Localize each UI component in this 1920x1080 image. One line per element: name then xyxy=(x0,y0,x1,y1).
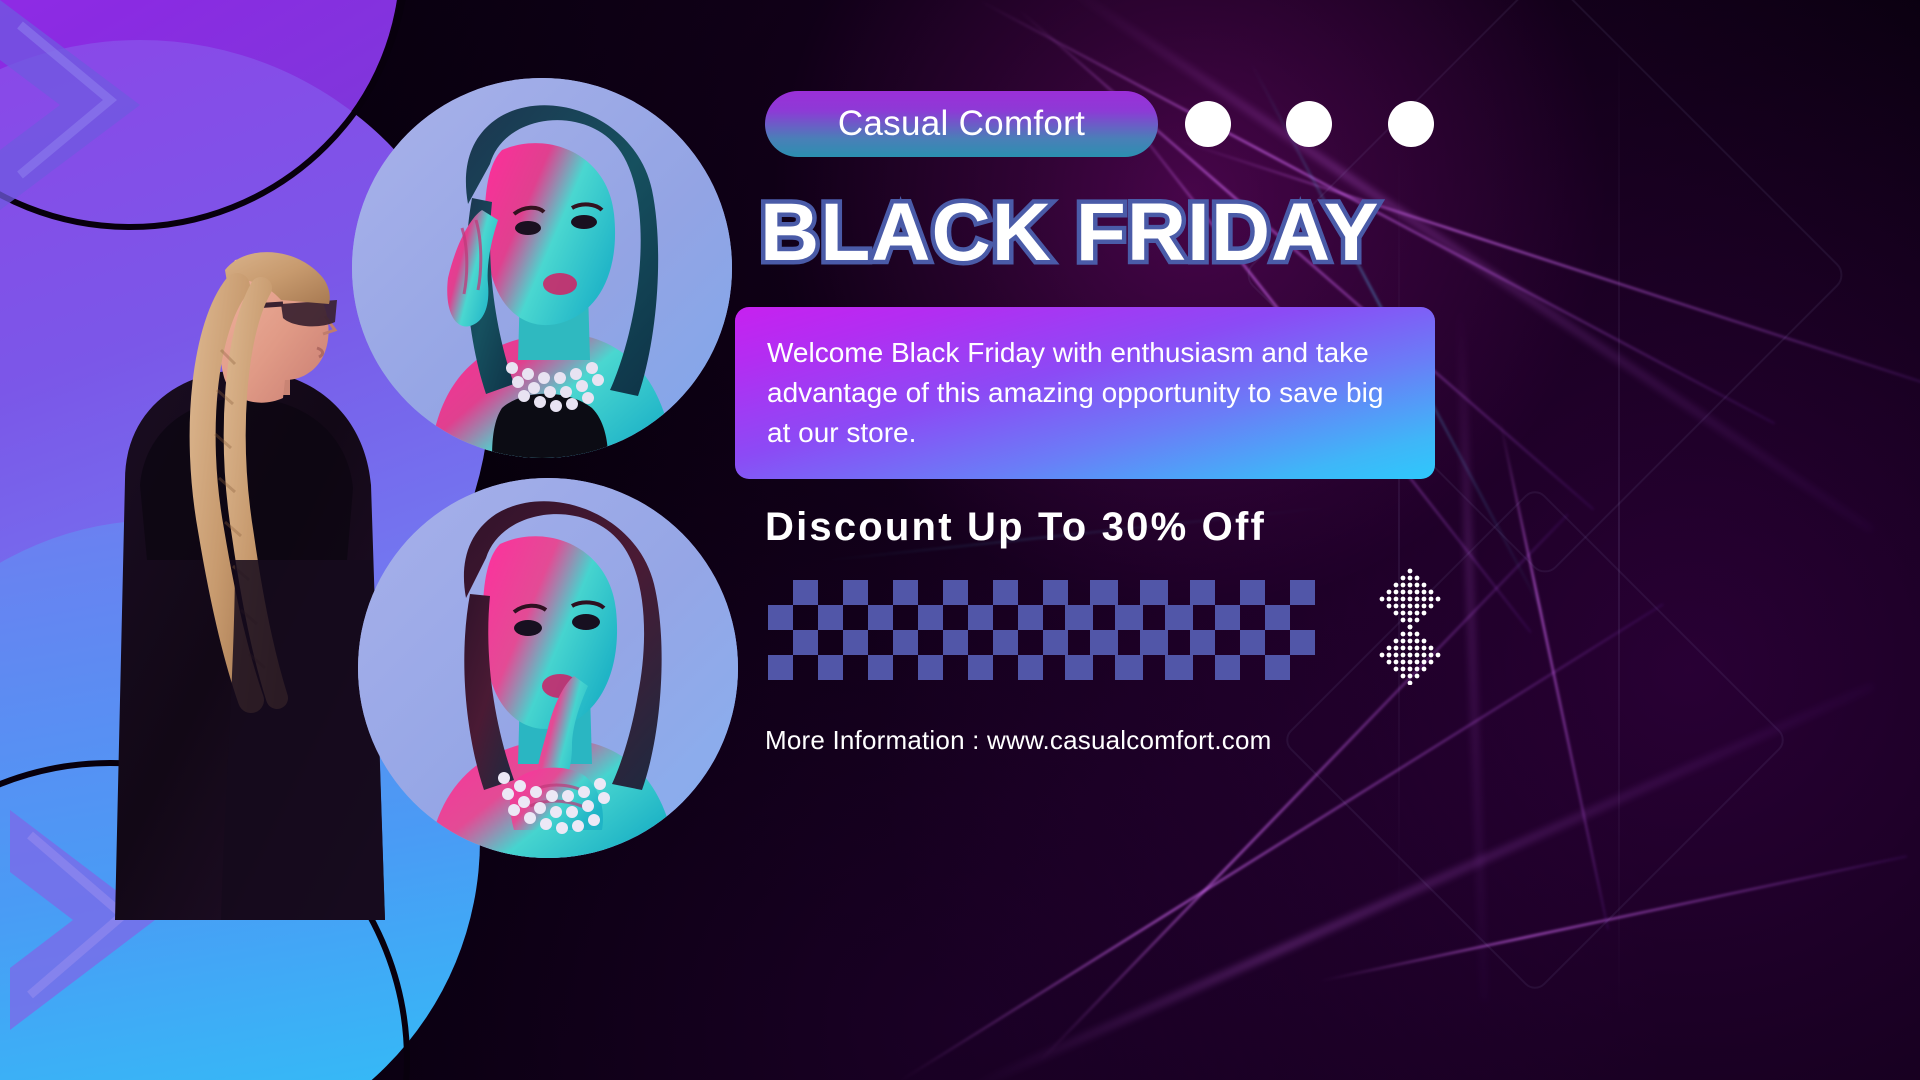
promo-paragraph: Welcome Black Friday with enthusiasm and… xyxy=(735,333,1435,453)
headline-black-friday: BLACK FRIDAY xyxy=(760,190,1920,276)
content-column: Casual Comfort BLACK FRIDAY Welcome Blac… xyxy=(760,0,1920,1080)
chevron-top-left-icon xyxy=(0,0,200,220)
dot-icon-2 xyxy=(1286,101,1332,147)
discount-headline: Discount Up To 30% Off xyxy=(765,505,1765,550)
more-information-text: More Information : www.casualcomfort.com xyxy=(765,725,1272,756)
decorative-dots-group xyxy=(1185,101,1450,147)
promo-message-box: Welcome Black Friday with enthusiasm and… xyxy=(735,307,1435,479)
brand-badge: Casual Comfort xyxy=(765,91,1158,157)
model-portrait-hand-to-face xyxy=(352,78,732,458)
dot-icon-3 xyxy=(1388,101,1434,147)
left-collage xyxy=(0,0,780,1080)
dotted-diamond-ornament xyxy=(1365,565,1455,685)
dot-icon-1 xyxy=(1185,101,1231,147)
black-friday-promo-banner: Casual Comfort BLACK FRIDAY Welcome Blac… xyxy=(0,0,1920,1080)
model-portrait-finger-to-lips xyxy=(358,478,738,858)
checker-block-right xyxy=(1065,580,1315,680)
brand-badge-label: Casual Comfort xyxy=(838,104,1085,144)
